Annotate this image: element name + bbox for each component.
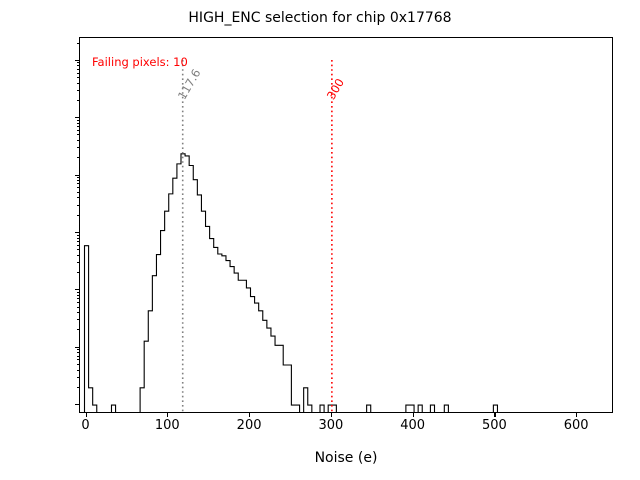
x-tick-mark	[413, 413, 414, 417]
x-tick-mark	[576, 413, 577, 417]
vertical-threshold-lines	[183, 60, 332, 413]
x-tick-label: 600	[546, 418, 606, 433]
x-axis-label: Noise (e)	[79, 450, 613, 466]
x-tick-mark	[494, 413, 495, 417]
histogram-svg	[80, 38, 613, 413]
x-tick-label: 500	[464, 418, 524, 433]
histogram-step-path	[85, 154, 498, 413]
x-tick-label: 200	[219, 418, 279, 433]
x-tick-label: 0	[56, 418, 116, 433]
chart-title: HIGH_ENC selection for chip 0x17768	[0, 10, 640, 26]
x-tick-label: 400	[383, 418, 443, 433]
plot-area: Failing pixels: 10 117.6 300	[79, 37, 613, 413]
x-tick-label: 100	[137, 418, 197, 433]
histogram-steps	[85, 154, 498, 413]
failing-pixels-annotation: Failing pixels: 10	[92, 55, 188, 69]
chart-figure: HIGH_ENC selection for chip 0x17768 Numb…	[0, 0, 640, 480]
x-tick-mark	[167, 413, 168, 417]
x-tick-label: 300	[301, 418, 361, 433]
x-tick-mark	[331, 413, 332, 417]
x-tick-mark	[249, 413, 250, 417]
x-tick-mark	[86, 413, 87, 417]
